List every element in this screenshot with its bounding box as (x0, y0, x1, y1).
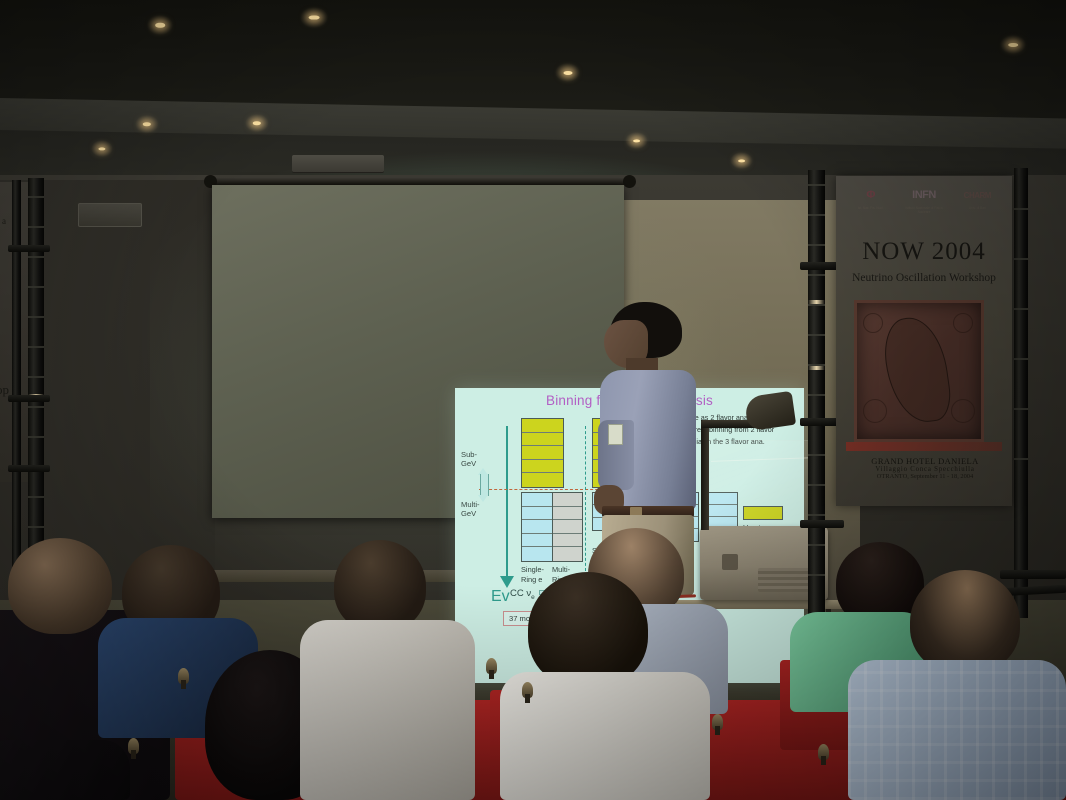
poster-venue-dates: OTRANTO, September 11 - 18, 2004 (846, 473, 1004, 480)
chair-finial (818, 744, 829, 760)
projector-panel (722, 554, 738, 570)
poster-venue-address: Villaggio Conca Specchiulla (846, 466, 1004, 473)
conference-room-photo: a op Binning for 3flavor analysis Same a… (0, 0, 1066, 800)
audience-member-head (334, 540, 426, 632)
ceiling-spotlight (735, 157, 748, 164)
poster-venue-name: GRAND HOTEL DANIELA (846, 456, 1004, 466)
sponsor-logo: Φ Ist. Naz. Fis. Nucl. (852, 184, 890, 210)
now-2004-poster: Φ Ist. Naz. Fis. Nucl. INFN Istituto Naz… (836, 176, 1012, 506)
sponsor-logo: CHARM Univ. di Bari (958, 184, 996, 210)
lighting-truss-right (808, 170, 825, 620)
sponsor-caption: Univ. di Bari (958, 206, 996, 210)
ceiling-air-vent (292, 155, 384, 172)
e-mu-divider (585, 426, 586, 571)
map-italy-outline (880, 313, 954, 426)
chair-finial (522, 682, 533, 698)
energy-axis-line (506, 426, 508, 583)
map-decoration (863, 399, 887, 423)
truss-crossbar-right (800, 520, 844, 528)
ceiling-spotlight (560, 68, 575, 77)
overhead-projector-post (701, 420, 709, 530)
cc-nu-e-label: CC νe (510, 588, 535, 599)
poster-antique-map-image (854, 300, 984, 442)
truss-crossbar-left (8, 245, 50, 252)
map-decoration (953, 313, 973, 333)
truss-crossbar-left (8, 465, 50, 472)
sponsor-logo: INFN Istituto Nazionale di Fisica Nuclea… (905, 184, 943, 214)
energy-axis-label: Ev (491, 588, 510, 606)
ceiling-spotlight (96, 145, 108, 152)
chair-finial (486, 658, 497, 674)
ceiling-spotlight (1005, 40, 1021, 49)
sponsor-caption: Istituto Nazionale di Fisica Nucleare (905, 206, 943, 214)
chair-finial (178, 668, 189, 684)
multigev-label: Multi-GeV (461, 500, 480, 518)
energy-axis-arrow-icon (500, 576, 514, 588)
chair-finial (712, 714, 723, 730)
sponsor-caption: Ist. Naz. Fis. Nucl. (852, 206, 890, 210)
poster-venue-block: GRAND HOTEL DANIELA Villaggio Conca Spec… (846, 456, 1004, 480)
lighting-truss-left (28, 178, 44, 598)
audience-member-head (910, 570, 1020, 674)
chair-finial (128, 738, 139, 754)
ceiling-spotlight (305, 12, 323, 23)
poster-red-band (846, 442, 1002, 451)
poster-subtitle: Neutrino Oscillation Workshop (836, 272, 1012, 284)
ceiling-spotlight (630, 137, 643, 144)
speaker-name-badge (608, 424, 623, 445)
left-poster-text-top: a (2, 216, 6, 226)
poster-title: NOW 2004 (836, 238, 1012, 266)
audience-member-body (0, 740, 130, 800)
wall-vent (78, 203, 142, 227)
audience-member-head (8, 538, 112, 634)
sponsor-mark-icon: INFN (905, 184, 943, 206)
truss-crossbar-top-right (1000, 570, 1066, 579)
map-decoration (863, 313, 883, 333)
poster-sponsor-logos: Φ Ist. Naz. Fis. Nucl. INFN Istituto Naz… (844, 184, 1004, 226)
truss-crossbar-left (8, 395, 50, 402)
updown-arrow-icon (478, 468, 489, 502)
lighting-truss-right-rail (1014, 168, 1028, 618)
sponsor-mark-icon: CHARM (958, 184, 996, 206)
projection-screen: Binning for 3flavor analysis Same as 2 f… (212, 185, 624, 518)
ceiling-spotlight (140, 120, 154, 128)
ceiling-spotlight (152, 20, 168, 30)
screen-mounting-bar (210, 178, 630, 185)
audience-member-body (300, 620, 475, 800)
projector-vent (758, 568, 812, 592)
lighting-truss-left-rail (12, 180, 21, 580)
subgev-label: Sub-GeV (461, 450, 477, 468)
ceiling-spotlight (250, 119, 264, 127)
map-decoration (951, 399, 975, 423)
sponsor-mark-icon: Φ (852, 184, 890, 206)
overhead-projector-stage (706, 440, 820, 530)
plaid-pattern (848, 660, 1066, 800)
audience-member-head (528, 572, 648, 688)
